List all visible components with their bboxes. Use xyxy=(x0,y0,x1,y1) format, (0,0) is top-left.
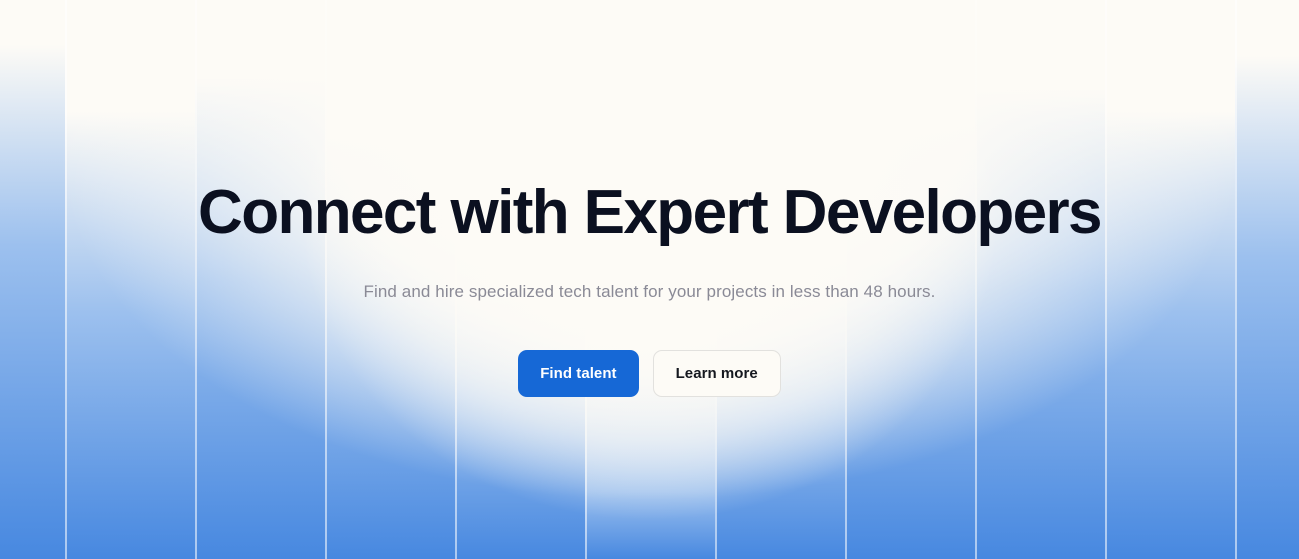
hero-cta-row: Find talent Learn more xyxy=(518,304,781,397)
page-title: Connect with Expert Developers xyxy=(198,176,1101,250)
find-talent-button[interactable]: Find talent xyxy=(518,350,638,397)
learn-more-button[interactable]: Learn more xyxy=(653,350,781,397)
hero-section: Connect with Expert Developers Find and … xyxy=(0,0,1299,559)
hero-subtitle: Find and hire specialized tech talent fo… xyxy=(364,250,936,304)
hero-content: Connect with Expert Developers Find and … xyxy=(0,0,1299,559)
